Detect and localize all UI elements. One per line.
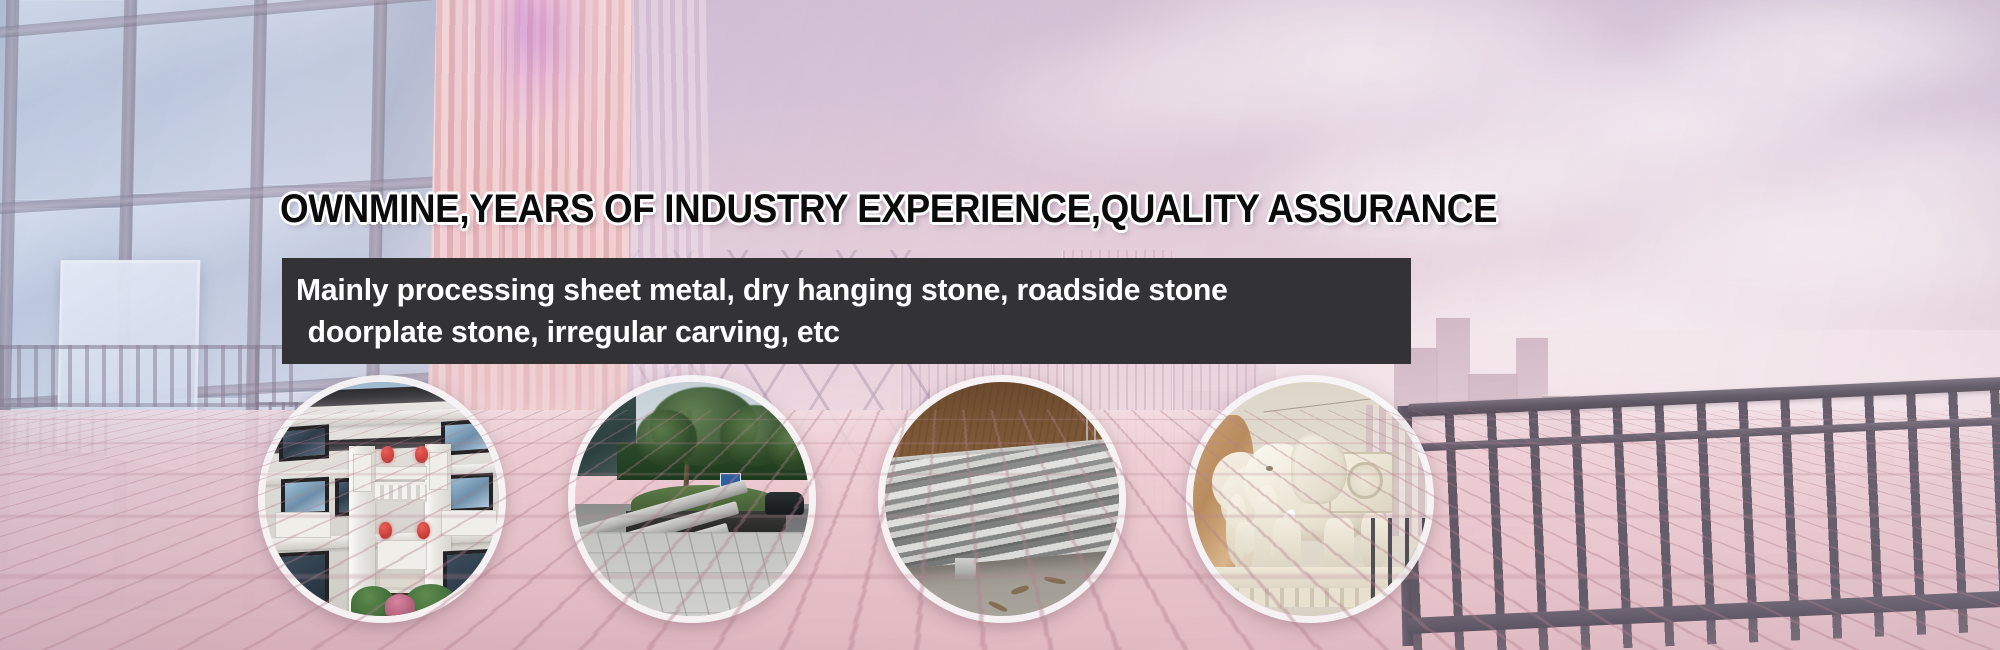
red-lantern-icon: [417, 522, 430, 539]
page-title: OWNMINE,YEARS OF INDUSTRY EXPERIENCE,QUA…: [280, 186, 1497, 232]
balcony-railing: [1420, 326, 2000, 650]
elephant-eye: [1266, 466, 1273, 471]
subtitle-panel: Mainly processing sheet metal, dry hangi…: [282, 258, 1411, 364]
lens-flare-streak: [518, 0, 524, 150]
parked-car: [765, 492, 805, 515]
thumb-marble-elephant-carving[interactable]: [1186, 375, 1434, 623]
red-lantern-icon: [379, 522, 392, 539]
ground-debris: [932, 599, 946, 607]
entrance-flowers: [385, 594, 415, 616]
cloud-shape: [960, 30, 1290, 170]
building-window: [279, 424, 329, 461]
thumb-stone-building-facade[interactable]: [258, 375, 506, 623]
thumb-image: [575, 382, 809, 616]
thumb-image: [265, 382, 499, 616]
column-carved-panel: [429, 452, 448, 490]
subtitle-line-2: doorplate stone, irregular carving, etc: [296, 311, 1356, 353]
granite-paving: [575, 532, 809, 616]
facade-relief-panel: [275, 512, 331, 538]
glass-pane: [262, 0, 377, 185]
facade-relief-panel: [441, 510, 497, 536]
red-lantern-icon: [381, 446, 394, 463]
thumb-image: [885, 382, 1119, 616]
red-lantern-icon: [415, 446, 428, 463]
saddle-medallion: [1347, 462, 1382, 499]
building-window: [275, 551, 329, 614]
subtitle-line-1: Mainly processing sheet metal, dry hangi…: [296, 269, 1356, 311]
lintel-panel: [375, 466, 427, 480]
background-railing: [1371, 518, 1427, 616]
left-balcony-railing: [0, 345, 300, 407]
lens-flare: [455, 0, 615, 170]
thumb-image: [1193, 382, 1427, 616]
veined-stone-block: [885, 441, 1119, 572]
tree-canopy: [636, 410, 697, 466]
tree-canopy: [767, 419, 809, 470]
stone-shim: [955, 558, 976, 579]
balcony-balustrade: [375, 482, 427, 502]
glass-pane: [132, 0, 256, 194]
promo-banner: OWNMINE,YEARS OF INDUSTRY EXPERIENCE,QUA…: [0, 0, 2000, 650]
thumb-plaza-granite-steps[interactable]: [568, 375, 816, 623]
entrance-relief-panel: [377, 540, 427, 570]
thumb-raw-veined-stone-block[interactable]: [878, 375, 1126, 623]
column-carved-panel: [353, 454, 372, 492]
